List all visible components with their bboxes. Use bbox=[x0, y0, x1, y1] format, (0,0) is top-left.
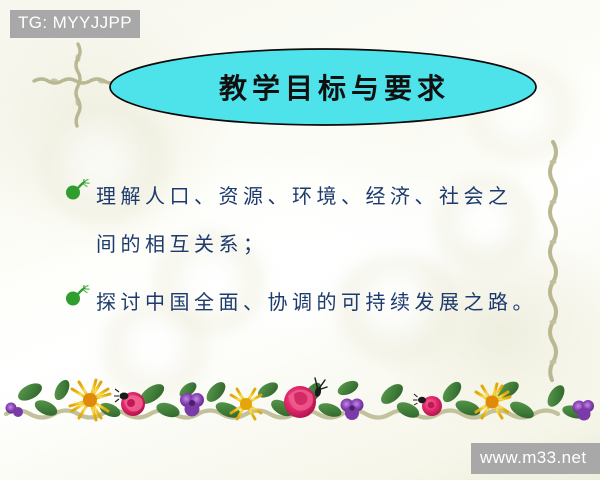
green-bomb-bullet-icon bbox=[64, 285, 90, 307]
slide-canvas: 教学目标与要求 理解人口、资源、环境、经济、社会之 间的相互关系； bbox=[0, 0, 600, 480]
floral-border-icon bbox=[0, 352, 600, 442]
page-title: 教学目标与要求 bbox=[108, 48, 538, 126]
title-speech-bubble: 教学目标与要求 bbox=[108, 48, 538, 134]
tg-watermark-badge: TG: MYYJJPP bbox=[10, 10, 140, 38]
flower-pink bbox=[284, 386, 316, 418]
bullet-list: 理解人口、资源、环境、经济、社会之 间的相互关系； 探讨中国全面、协调的可持续发… bbox=[62, 172, 540, 326]
flower-purple bbox=[341, 399, 364, 421]
list-item: 理解人口、资源、环境、经济、社会之 间的相互关系； bbox=[62, 172, 540, 268]
list-item-label: 探讨中国全面、协调的可持续发展之路。 bbox=[62, 278, 540, 326]
site-watermark-badge: www.m33.net bbox=[471, 443, 600, 474]
list-item-label: 理解人口、资源、环境、经济、社会之 bbox=[62, 172, 540, 220]
green-bomb-bullet-icon bbox=[64, 179, 90, 201]
list-item: 探讨中国全面、协调的可持续发展之路。 bbox=[62, 278, 540, 326]
list-item-label-continued: 间的相互关系； bbox=[62, 220, 540, 268]
